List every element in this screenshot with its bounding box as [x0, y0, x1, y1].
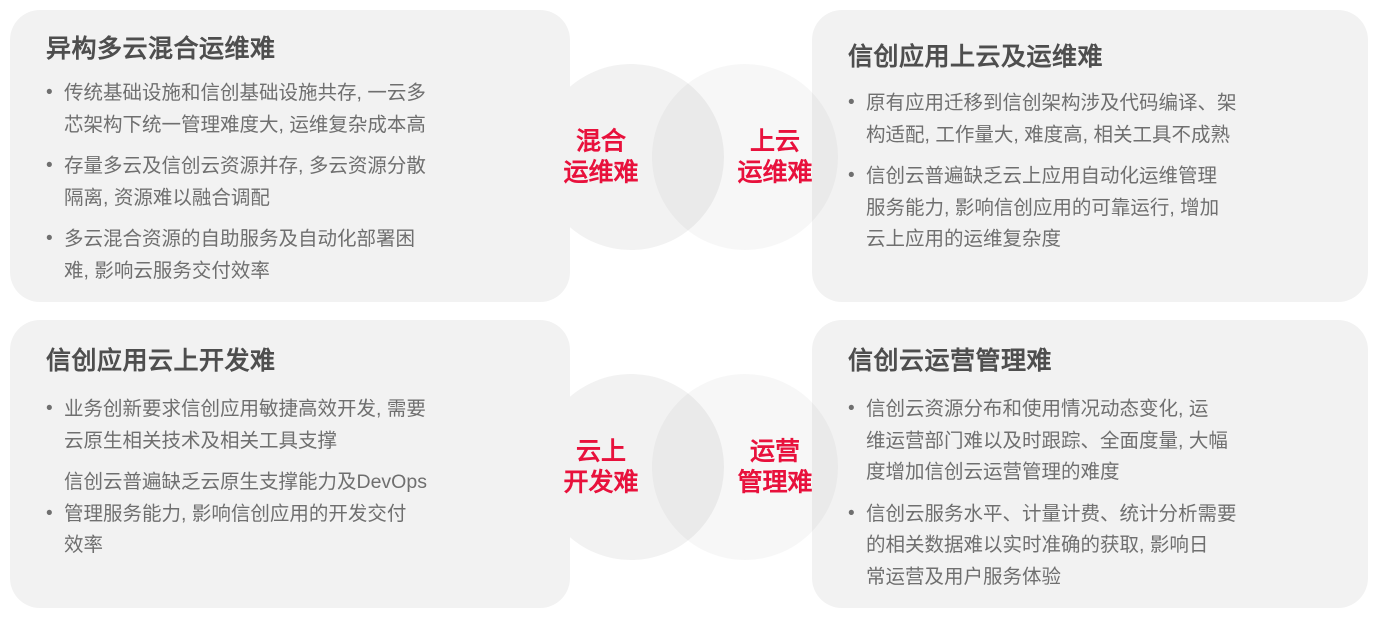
list-item-text: 多云混合资源的自助服务及自动化部署困 难, 影响云服务交付效率	[64, 224, 540, 287]
list-item: 业务创新要求信创应用敏捷高效开发, 需要 云原生相关技术及相关工具支撑	[46, 394, 540, 457]
list-item: 信创云普遍缺乏云上应用自动化运维管理 服务能力, 影响信创应用的可靠运行, 增加…	[848, 161, 1338, 256]
list-item: 信创云服务水平、计量计费、统计分析需要 的相关数据难以实时准确的获取, 影响日 …	[848, 499, 1338, 594]
bullet-list: 信创云资源分布和使用情况动态变化, 运 维运营部门难以及时跟踪、全面度量, 大幅…	[848, 394, 1338, 593]
card-heterogeneous-multicloud: 异构多云混合运维难 传统基础设施和信创基础设施共存, 一云多 芯架构下统一管理难…	[10, 10, 570, 302]
list-item-text: 信创云资源分布和使用情况动态变化, 运 维运营部门难以及时跟踪、全面度量, 大幅…	[866, 394, 1338, 489]
bullet-point-icon	[46, 151, 64, 182]
bullet-point-icon	[46, 78, 64, 109]
bullet-point-icon	[848, 499, 866, 530]
card-title: 信创应用云上开发难	[46, 346, 540, 376]
list-item: 原有应用迁移到信创架构涉及代码编译、架 构适配, 工作量大, 难度高, 相关工具…	[848, 88, 1338, 151]
card-cloud-operations: 信创云运营管理难 信创云资源分布和使用情况动态变化, 运 维运营部门难以及时跟踪…	[812, 320, 1368, 608]
venn-label-hybrid-ops: 混合 运维难	[536, 127, 666, 188]
bullet-point-icon	[848, 88, 866, 119]
bullet-point-icon	[46, 499, 64, 530]
card-title: 异构多云混合运维难	[46, 34, 540, 64]
list-item: 传统基础设施和信创基础设施共存, 一云多 芯架构下统一管理难度大, 运维复杂成本…	[46, 78, 540, 141]
bullet-point-icon	[46, 224, 64, 255]
list-item-text: 信创云普遍缺乏云上应用自动化运维管理 服务能力, 影响信创应用的可靠运行, 增加…	[866, 161, 1338, 256]
card-title: 信创云运营管理难	[848, 346, 1338, 376]
card-title: 信创应用上云及运维难	[848, 42, 1338, 72]
venn-diagram-top: 混合 运维难 上云 运维难	[538, 64, 838, 250]
list-item-text: 存量多云及信创云资源并存, 多云资源分散 隔离, 资源难以融合调配	[64, 151, 540, 214]
card-app-migration-ops: 信创应用上云及运维难 原有应用迁移到信创架构涉及代码编译、架 构适配, 工作量大…	[812, 10, 1368, 302]
bullet-point-icon	[848, 394, 866, 425]
venn-label-cloud-dev: 云上 开发难	[536, 437, 666, 498]
list-item-text: 业务创新要求信创应用敏捷高效开发, 需要 云原生相关技术及相关工具支撑	[64, 394, 540, 457]
bullet-list: 传统基础设施和信创基础设施共存, 一云多 芯架构下统一管理难度大, 运维复杂成本…	[46, 78, 540, 287]
list-item: 信创云资源分布和使用情况动态变化, 运 维运营部门难以及时跟踪、全面度量, 大幅…	[848, 394, 1338, 489]
bullet-list: 原有应用迁移到信创架构涉及代码编译、架 构适配, 工作量大, 难度高, 相关工具…	[848, 88, 1338, 256]
bullet-point-icon	[46, 394, 64, 425]
bullet-list: 业务创新要求信创应用敏捷高效开发, 需要 云原生相关技术及相关工具支撑 信创云普…	[46, 394, 540, 562]
card-cloud-development: 信创应用云上开发难 业务创新要求信创应用敏捷高效开发, 需要 云原生相关技术及相…	[10, 320, 570, 608]
venn-diagram-bottom: 云上 开发难 运营 管理难	[538, 374, 838, 560]
list-item: 存量多云及信创云资源并存, 多云资源分散 隔离, 资源难以融合调配	[46, 151, 540, 214]
list-item-text: 信创云服务水平、计量计费、统计分析需要 的相关数据难以实时准确的获取, 影响日 …	[866, 499, 1338, 594]
challenges-board: 异构多云混合运维难 传统基础设施和信创基础设施共存, 一云多 芯架构下统一管理难…	[0, 0, 1378, 620]
list-item: 多云混合资源的自助服务及自动化部署困 难, 影响云服务交付效率	[46, 224, 540, 287]
bullet-point-icon	[848, 161, 866, 192]
venn-label-operations-mgmt: 运营 管理难	[710, 437, 840, 498]
list-item-text: 传统基础设施和信创基础设施共存, 一云多 芯架构下统一管理难度大, 运维复杂成本…	[64, 78, 540, 141]
venn-label-cloud-ops: 上云 运维难	[710, 127, 840, 188]
list-item-text: 信创云普遍缺乏云原生支撑能力及DevOps 管理服务能力, 影响信创应用的开发交…	[64, 467, 540, 562]
list-item: 信创云普遍缺乏云原生支撑能力及DevOps 管理服务能力, 影响信创应用的开发交…	[46, 467, 540, 562]
list-item-text: 原有应用迁移到信创架构涉及代码编译、架 构适配, 工作量大, 难度高, 相关工具…	[866, 88, 1338, 151]
